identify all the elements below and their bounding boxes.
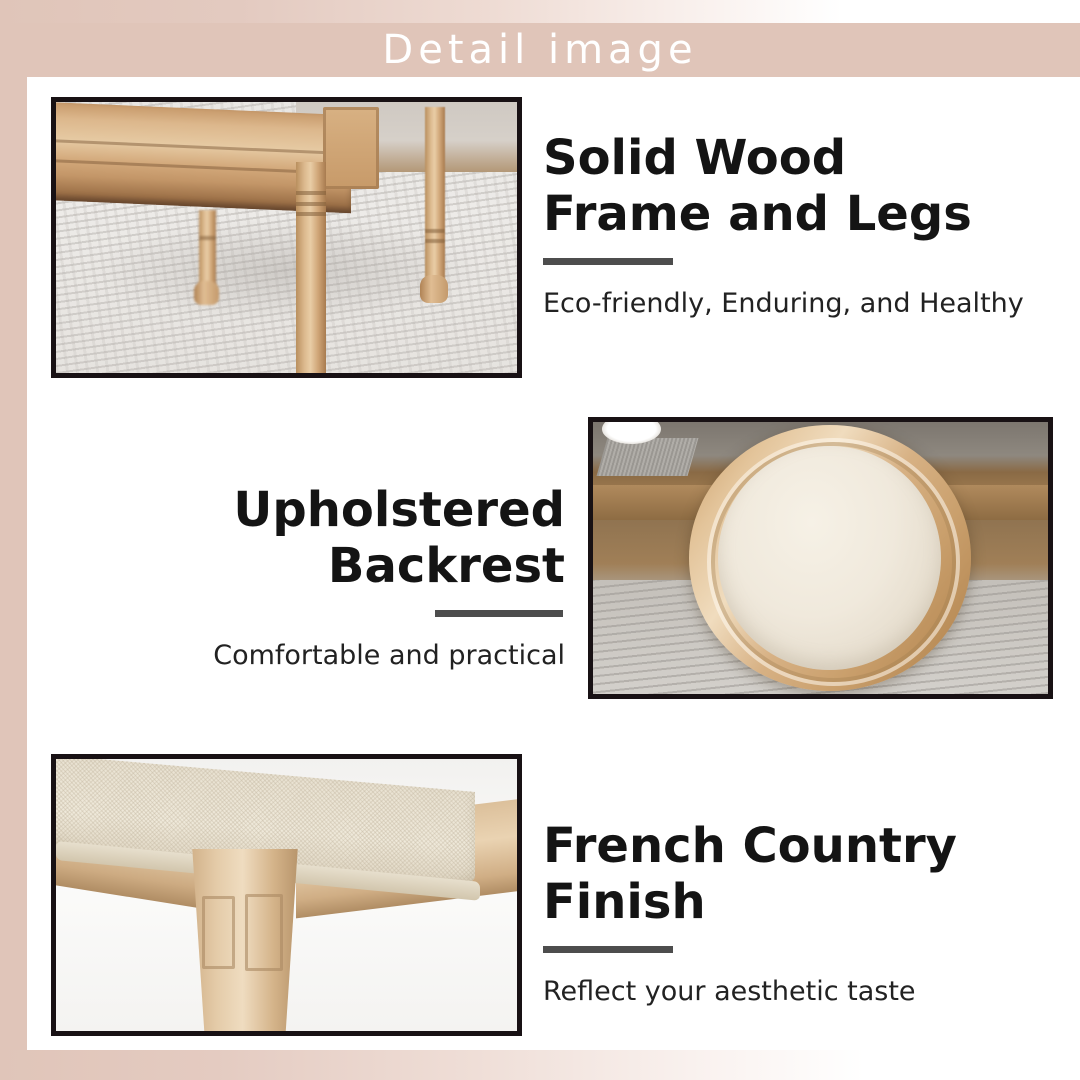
chair-leg-front xyxy=(296,162,326,373)
carved-corner-leg xyxy=(185,849,305,1031)
photo-backrest-scene xyxy=(593,422,1048,694)
placemat xyxy=(597,438,699,476)
top-gradient-border xyxy=(0,0,1080,23)
chair-foot-right xyxy=(420,275,448,302)
feature-divider-rule xyxy=(543,946,673,953)
carved-block-detail xyxy=(323,107,378,188)
feature-subtext: Comfortable and practical xyxy=(60,639,565,673)
feature-text-french-country-finish: French Country Finish Reflect your aesth… xyxy=(543,818,1063,1009)
feature-divider-rule xyxy=(435,610,563,617)
photo-corner-scene xyxy=(56,759,517,1031)
feature-text-solid-wood-frame-and-legs: Solid Wood Frame and Legs Eco-friendly, … xyxy=(543,130,1063,321)
feature-heading: French Country Finish xyxy=(543,818,1063,930)
feature-heading: Solid Wood Frame and Legs xyxy=(543,130,1063,242)
chair-foot-left xyxy=(194,281,219,305)
feature-divider-rule xyxy=(543,258,673,265)
feature-subtext: Eco-friendly, Enduring, and Healthy xyxy=(543,287,1063,321)
detail-image-page: Detail image xyxy=(0,0,1080,1080)
feature-photo-french-country-finish xyxy=(51,754,522,1036)
oval-upholstered-cushion xyxy=(718,446,941,670)
leg-carved-panel-left xyxy=(202,896,236,969)
feature-photo-solid-wood-frame-and-legs xyxy=(51,97,522,378)
feature-photo-upholstered-backrest xyxy=(588,417,1053,699)
page-title: Detail image xyxy=(0,23,1080,77)
photo-legs-scene xyxy=(56,102,517,373)
oval-wood-frame xyxy=(689,425,971,692)
feature-subtext: Reflect your aesthetic taste xyxy=(543,975,1063,1009)
feature-text-upholstered-backrest: Upholstered Backrest Comfortable and pra… xyxy=(60,482,565,673)
chair-leg-right xyxy=(425,107,445,280)
leg-carved-panel-right xyxy=(245,894,283,971)
left-frame-border xyxy=(0,0,27,1080)
feature-heading: Upholstered Backrest xyxy=(60,482,565,594)
bottom-gradient-border xyxy=(0,1050,1080,1080)
chair-leg-left xyxy=(199,210,216,286)
